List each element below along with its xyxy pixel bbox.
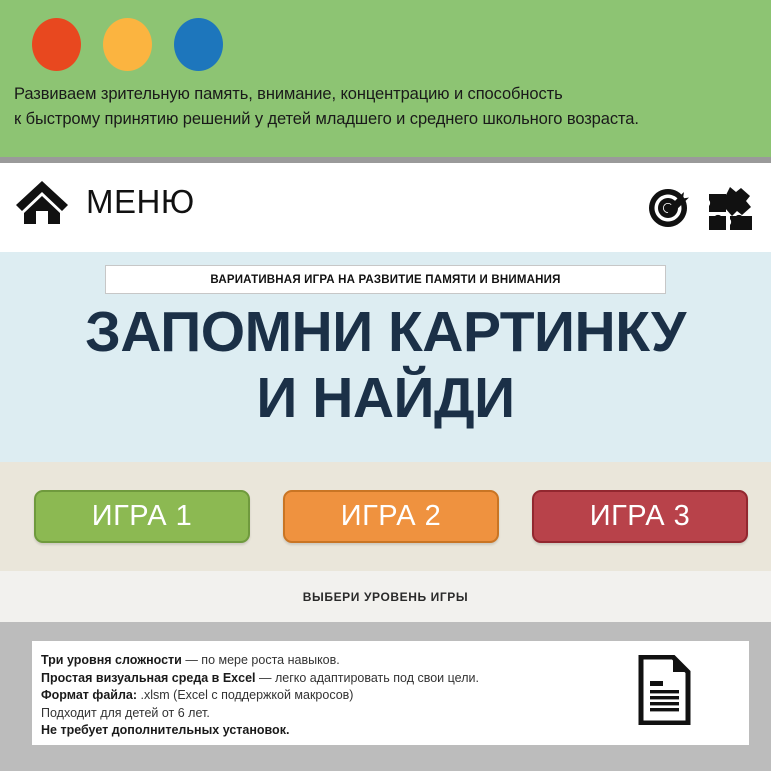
menu-label: МЕНЮ <box>86 185 195 221</box>
game-button-strip: ИГРА 1 ИГРА 2 ИГРА 3 <box>0 462 771 571</box>
info-line-3-rest: .xlsm (Excel с поддержкой макросов) <box>137 688 353 702</box>
promo-banner: Развиваем зрительную память, внимание, к… <box>0 0 771 157</box>
info-line-5: Не требует дополнительных установок. <box>41 722 479 740</box>
info-text-block: Три уровня сложности — по мере роста нав… <box>41 652 479 740</box>
decorative-dots <box>32 18 223 71</box>
menu-home-button[interactable]: МЕНЮ <box>14 179 195 226</box>
dot-yellow-icon <box>103 18 152 71</box>
info-line-3: Формат файла: .xlsm (Excel с поддержкой … <box>41 687 479 705</box>
promo-text: Развиваем зрительную память, внимание, к… <box>14 82 766 132</box>
page-title: ЗАПОМНИ КАРТИНКУ И НАЙДИ <box>0 304 771 427</box>
hero-subtitle-banner: ВАРИАТИВНАЯ ИГРА НА РАЗВИТИЕ ПАМЯТИ И ВН… <box>105 265 666 294</box>
info-line-2: Простая визуальная среда в Excel — легко… <box>41 670 479 688</box>
puzzle-pieces-icon[interactable] <box>707 186 754 231</box>
document-icon <box>637 655 692 725</box>
promo-line-2: к быстрому принятию решений у детей млад… <box>14 107 766 132</box>
page-title-line-1: ЗАПОМНИ КАРТИНКУ <box>0 304 771 361</box>
hero-subtitle: ВАРИАТИВНАЯ ИГРА НА РАЗВИТИЕ ПАМЯТИ И ВН… <box>210 274 560 286</box>
info-footer: Три уровня сложности — по мере роста нав… <box>0 622 771 771</box>
dot-blue-icon <box>174 18 223 71</box>
page-title-line-2: И НАЙДИ <box>0 370 771 427</box>
info-line-5-bold: Не требует дополнительных установок. <box>41 723 289 737</box>
game-buttons: ИГРА 1 ИГРА 2 ИГРА 3 <box>34 490 748 543</box>
info-line-1-rest: — по мере роста навыков. <box>182 653 340 667</box>
info-card: Три уровня сложности — по мере роста нав… <box>32 641 749 745</box>
info-line-1: Три уровня сложности — по мере роста нав… <box>41 652 479 670</box>
game-2-button[interactable]: ИГРА 2 <box>283 490 499 543</box>
level-prompt-bar: ВЫБЕРИ УРОВЕНЬ ИГРЫ <box>0 571 771 622</box>
level-prompt-label: ВЫБЕРИ УРОВЕНЬ ИГРЫ <box>303 590 469 604</box>
info-line-3-bold: Формат файла: <box>41 688 137 702</box>
game-3-button[interactable]: ИГРА 3 <box>532 490 748 543</box>
home-icon <box>14 179 70 226</box>
app-screen: Развиваем зрительную память, внимание, к… <box>0 0 771 771</box>
promo-line-1: Развиваем зрительную память, внимание, к… <box>14 82 766 107</box>
target-arrow-icon[interactable] <box>646 186 691 231</box>
info-line-4: Подходит для детей от 6 лет. <box>41 705 479 723</box>
info-line-2-bold: Простая визуальная среда в Excel <box>41 671 256 685</box>
info-line-2-rest: — легко адаптировать под свои цели. <box>256 671 479 685</box>
info-line-1-bold: Три уровня сложности <box>41 653 182 667</box>
dot-red-icon <box>32 18 81 71</box>
menu-icon-group <box>646 186 754 231</box>
info-line-4-rest: Подходит для детей от 6 лет. <box>41 706 210 720</box>
hero-section: ВАРИАТИВНАЯ ИГРА НА РАЗВИТИЕ ПАМЯТИ И ВН… <box>0 252 771 462</box>
menu-bar: МЕНЮ <box>0 163 771 252</box>
game-1-button[interactable]: ИГРА 1 <box>34 490 250 543</box>
